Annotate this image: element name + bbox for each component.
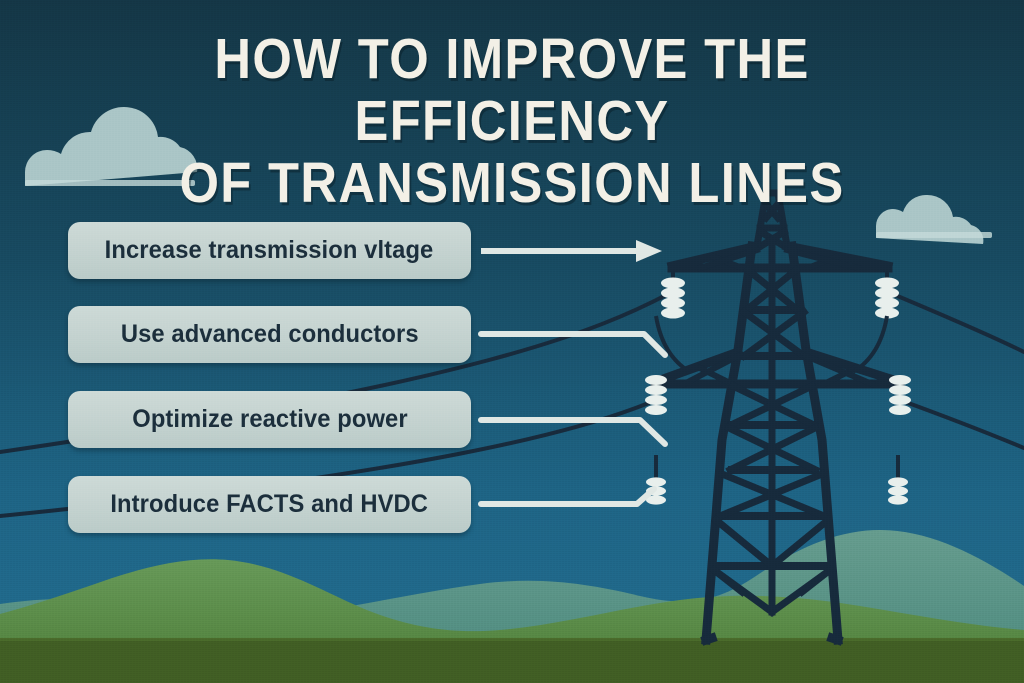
cloud-left-icon: [25, 107, 197, 186]
insulator-icon: [646, 470, 666, 505]
insulator-icon: [875, 268, 899, 319]
label-text: Increase transmission vltage: [105, 236, 434, 265]
insulator-icon: [888, 470, 908, 505]
insulator-icon: [889, 375, 911, 415]
infographic-canvas: HOW TO IMPROVE THE EFFICIENCY OF TRANSMI…: [0, 0, 1024, 683]
insulator-icon: [661, 268, 685, 319]
label-text: Introduce FACTS and HVDC: [111, 490, 429, 519]
ground-strip: [0, 638, 1024, 683]
label-box-reactive-power[interactable]: Optimize reactive power: [68, 391, 471, 448]
label-box-increase-voltage[interactable]: Increase transmission vltage: [68, 222, 471, 279]
label-text: Optimize reactive power: [132, 405, 407, 434]
label-text: Use advanced conductors: [121, 320, 419, 349]
label-box-advanced-conductors[interactable]: Use advanced conductors: [68, 306, 471, 363]
label-box-facts-hvdc[interactable]: Introduce FACTS and HVDC: [68, 476, 471, 533]
cloud-right-icon: [876, 195, 992, 244]
ground-highlight: [0, 638, 1024, 641]
insulator-icon: [645, 375, 667, 415]
